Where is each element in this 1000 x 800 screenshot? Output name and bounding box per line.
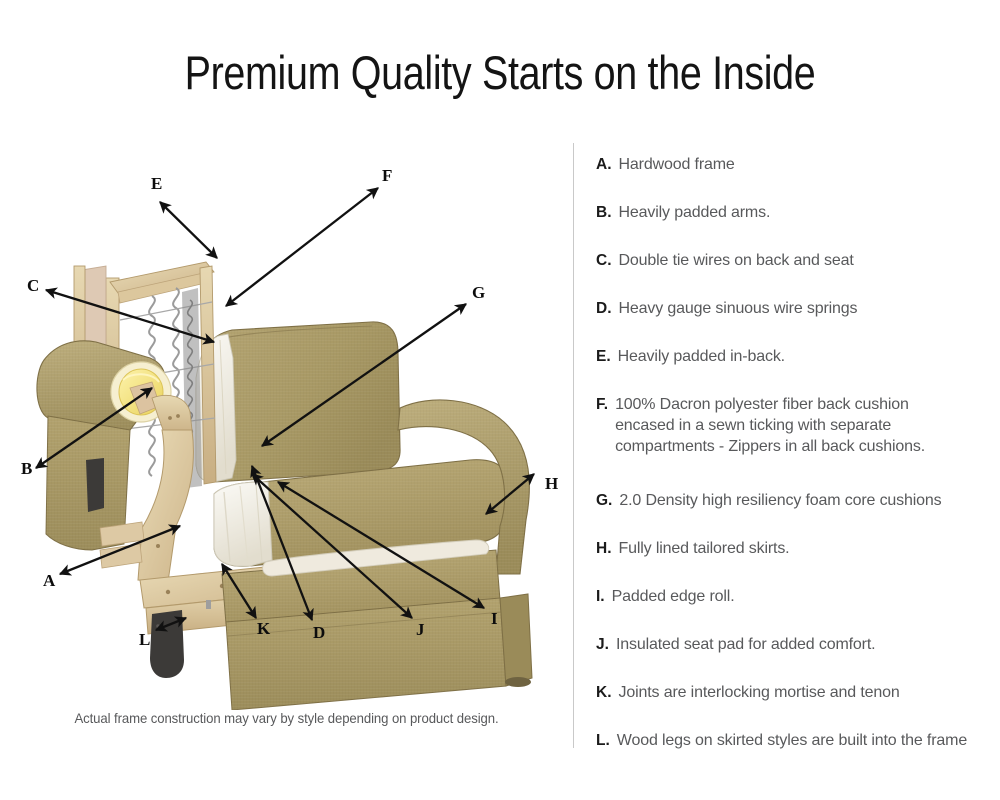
legend-item-f: F. 100% Dacron polyester fiber back cush… — [596, 394, 976, 457]
legend-letter-a: A. — [596, 154, 612, 175]
chair-illustration — [0, 130, 573, 710]
legend-text-f-line2: encased in a sewn ticking with separate — [615, 415, 925, 436]
legend-item-b: B. Heavily padded arms. — [596, 202, 770, 223]
legend-item-e: E. Heavily padded in-back. — [596, 346, 785, 367]
arrow-E — [160, 202, 217, 258]
callout-label-a: A — [43, 571, 55, 591]
callout-label-l: L — [139, 630, 150, 650]
callout-label-b: B — [21, 459, 32, 479]
callout-label-h: H — [545, 474, 558, 494]
legend-text-e: Heavily padded in-back. — [618, 346, 785, 367]
legend-item-c: C. Double tie wires on back and seat — [596, 250, 854, 271]
legend-text-h: Fully lined tailored skirts. — [619, 538, 790, 559]
callout-label-c: C — [27, 276, 39, 296]
legend-item-d: D. Heavy gauge sinuous wire springs — [596, 298, 857, 319]
legend-text-c: Double tie wires on back and seat — [619, 250, 854, 271]
legend-letter-f: F. — [596, 394, 608, 415]
vertical-divider — [573, 143, 574, 748]
page-root: Premium Quality Starts on the Inside — [0, 0, 1000, 800]
legend-text-f: 100% Dacron polyester fiber back cushion… — [615, 394, 925, 457]
legend-text-i: Padded edge roll. — [612, 586, 735, 607]
legend-letter-h: H. — [596, 538, 612, 559]
legend-item-l: L. Wood legs on skirted styles are built… — [596, 730, 967, 751]
legend-text-j: Insulated seat pad for added comfort. — [616, 634, 876, 655]
callout-label-j: J — [416, 620, 425, 640]
legend-item-j: J. Insulated seat pad for added comfort. — [596, 634, 875, 655]
legend-text-f-line1: 100% Dacron polyester fiber back cushion — [615, 396, 909, 413]
legend-letter-g: G. — [596, 490, 612, 511]
chair-cutaway-diagram: E F C G B H A L K D J I — [0, 130, 573, 710]
legend-text-f-line3: compartments - Zippers in all back cushi… — [615, 436, 925, 457]
legend-text-d: Heavy gauge sinuous wire springs — [619, 298, 858, 319]
callout-label-g: G — [472, 283, 485, 303]
legend-item-h: H. Fully lined tailored skirts. — [596, 538, 789, 559]
legend-letter-e: E. — [596, 346, 611, 367]
legend-text-b: Heavily padded arms. — [619, 202, 771, 223]
legend-item-k: K. Joints are interlocking mortise and t… — [596, 682, 900, 703]
legend-letter-d: D. — [596, 298, 612, 319]
callout-label-i: I — [491, 609, 498, 629]
legend-text-g: 2.0 Density high resiliency foam core cu… — [619, 490, 941, 511]
callout-label-e: E — [151, 174, 162, 194]
legend-text-l: Wood legs on skirted styles are built in… — [617, 730, 967, 751]
legend-text-a: Hardwood frame — [619, 154, 735, 175]
legend-letter-k: K. — [596, 682, 612, 703]
legend-item-g: G. 2.0 Density high resiliency foam core… — [596, 490, 942, 511]
legend-letter-c: C. — [596, 250, 612, 271]
legend-letter-j: J. — [596, 634, 609, 655]
callout-label-d: D — [313, 623, 325, 643]
legend-letter-i: I. — [596, 586, 605, 607]
arrow-F — [226, 188, 378, 306]
legend-letter-b: B. — [596, 202, 612, 223]
legend-item-a: A. Hardwood frame — [596, 154, 735, 175]
legend-text-k: Joints are interlocking mortise and teno… — [619, 682, 900, 703]
legend-item-i: I. Padded edge roll. — [596, 586, 735, 607]
diagram-footnote: Actual frame construction may vary by st… — [17, 710, 556, 726]
page-title: Premium Quality Starts on the Inside — [80, 44, 920, 102]
legend-letter-l: L. — [596, 730, 610, 751]
callout-label-k: K — [257, 619, 270, 639]
callout-label-f: F — [382, 166, 392, 186]
